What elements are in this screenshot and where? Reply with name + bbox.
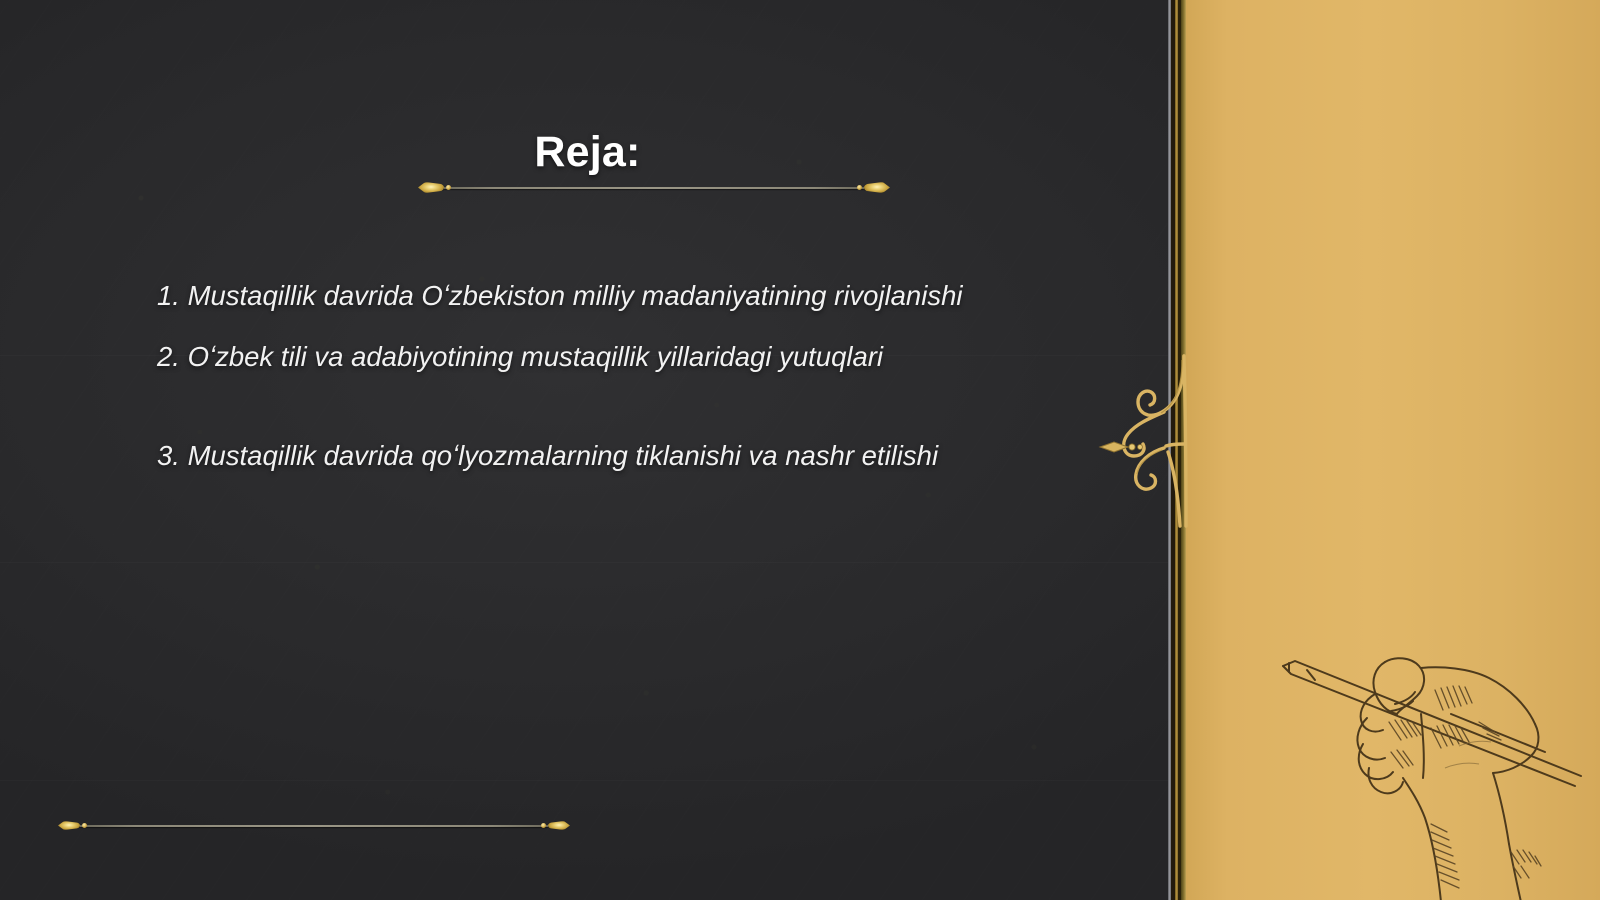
slide-title: Reja: [0, 128, 1175, 177]
background-band [0, 780, 1175, 781]
divider-dot-right-icon [857, 185, 862, 190]
presentation-slide: Reja: 1. Mustaqillik davrida Oʻzbekiston… [0, 0, 1600, 900]
divider-rule [444, 187, 864, 189]
divider-bead-left-icon [58, 821, 80, 830]
agenda-list: 1. Mustaqillik davrida Oʻzbekiston milli… [157, 276, 1132, 475]
divider-top [418, 181, 890, 195]
divider-dot-right-icon [541, 823, 546, 828]
divider-bead-right-icon [864, 182, 890, 193]
agenda-item: 1. Mustaqillik davrida Oʻzbekiston milli… [157, 276, 987, 315]
agenda-item: 2. Oʻzbek tili va adabiyotining mustaqil… [157, 337, 1132, 376]
hand-holding-pen-illustration [1245, 618, 1585, 900]
divider-bead-left-icon [418, 182, 444, 193]
divider-bead-right-icon [548, 821, 570, 830]
divider-bottom [58, 819, 570, 833]
background-band [0, 562, 1175, 563]
divider-rule [80, 825, 548, 827]
gold-filigree-flourish-icon [1098, 352, 1190, 530]
agenda-item: 3. Mustaqillik davrida qoʻlyozmalarning … [157, 436, 1132, 475]
divider-dot-left-icon [446, 185, 451, 190]
divider-dot-left-icon [82, 823, 87, 828]
